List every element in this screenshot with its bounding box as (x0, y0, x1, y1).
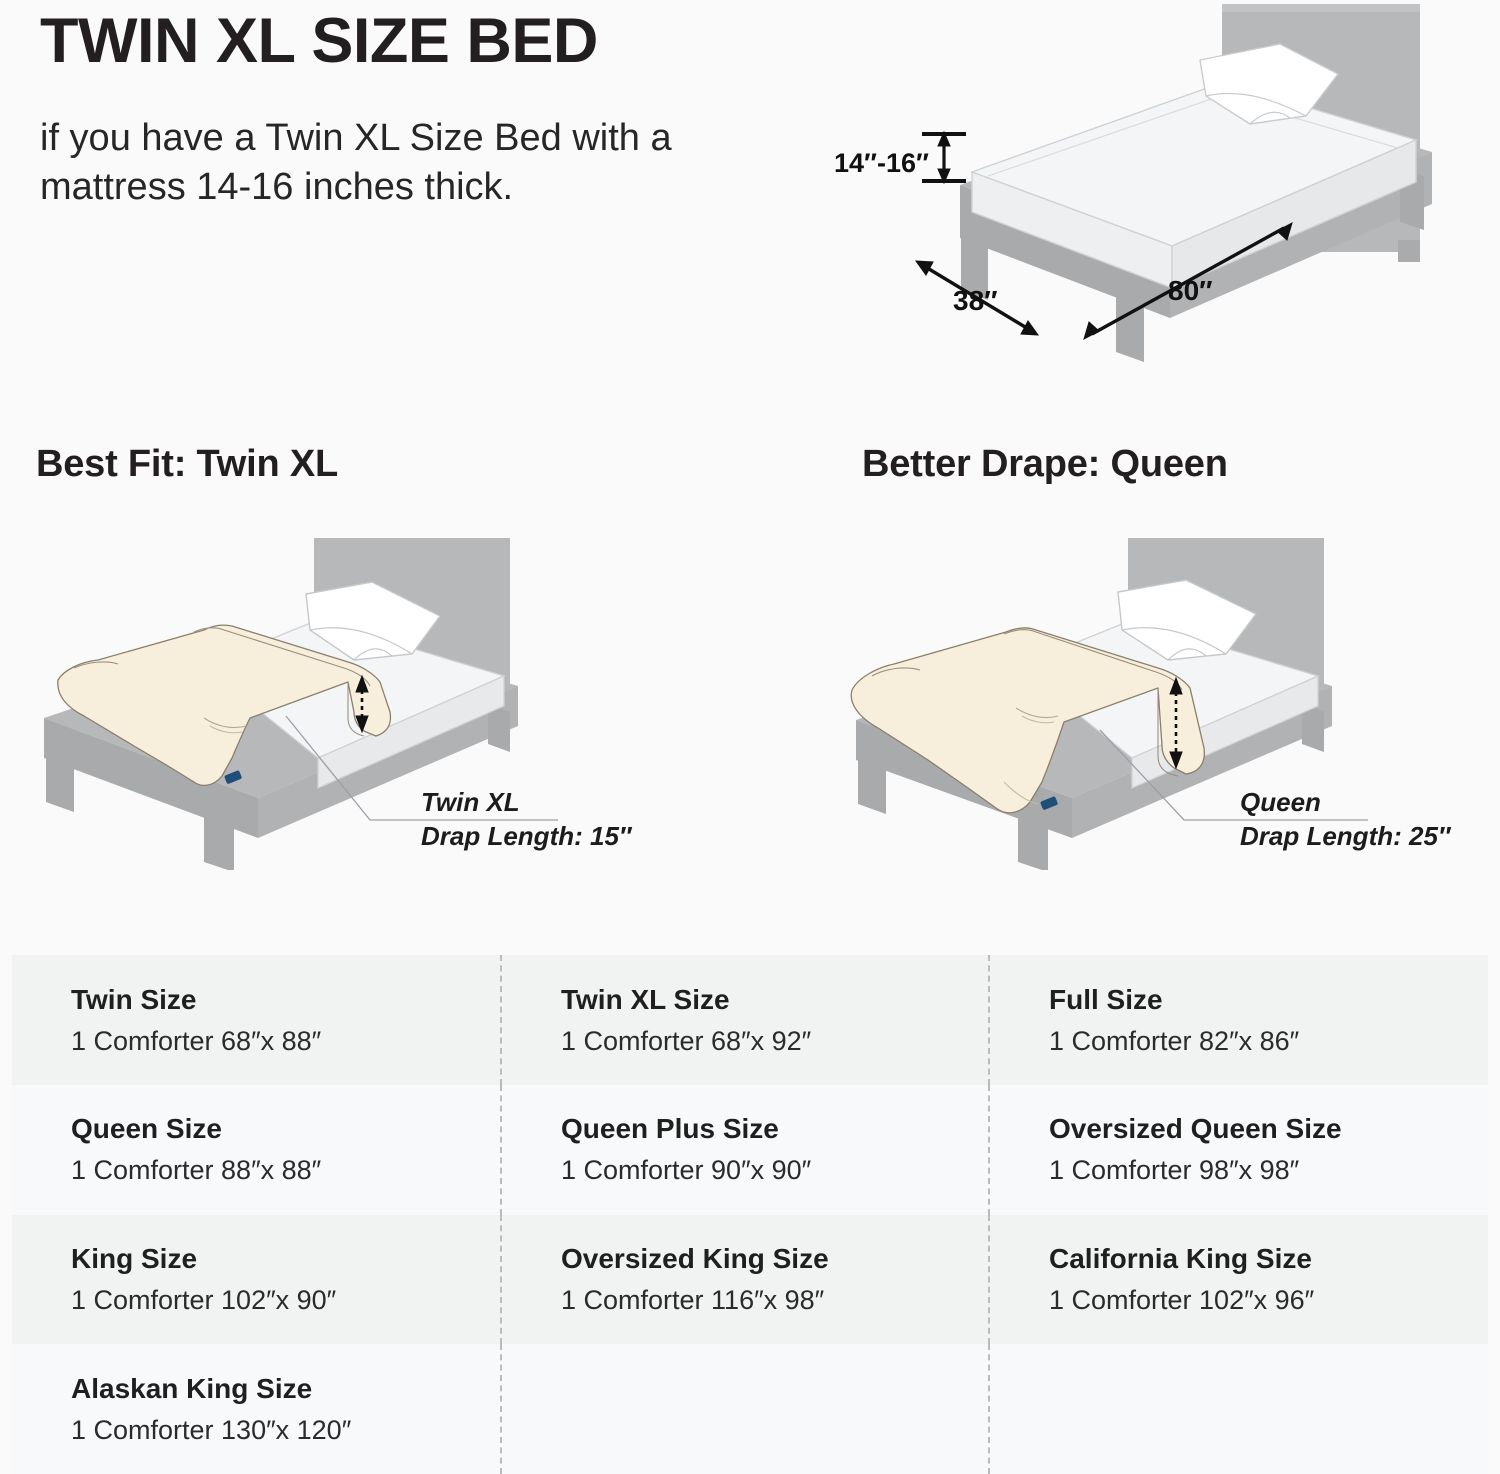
size-detail: 1 Comforter 82″x 86″ (1049, 1021, 1476, 1062)
table-cell: Twin XL Size 1 Comforter 68″x 92″ (500, 955, 988, 1085)
size-detail: 1 Comforter 116″x 98″ (561, 1280, 988, 1321)
table-cell: Full Size 1 Comforter 82″x 86″ (988, 955, 1476, 1085)
table-row: King Size 1 Comforter 102″x 90″ Oversize… (12, 1215, 1488, 1345)
size-detail: 1 Comforter 88″x 88″ (71, 1150, 500, 1191)
size-detail: 1 Comforter 68″x 92″ (561, 1021, 988, 1062)
size-name: Full Size (1049, 979, 1476, 1021)
section-heading-better-drape: Better Drape: Queen (862, 443, 1228, 486)
size-name: Oversized King Size (561, 1238, 988, 1280)
size-detail: 1 Comforter 130″x 120″ (71, 1410, 500, 1451)
table-cell: Oversized King Size 1 Comforter 116″x 98… (500, 1215, 988, 1345)
size-name: Alaskan King Size (71, 1368, 500, 1410)
width-label: 38″ (953, 285, 998, 316)
hero-bed-diagram: 14″-16″ 38″ 80″ (820, 0, 1500, 380)
size-name: Twin XL Size (561, 979, 988, 1021)
table-row: Alaskan King Size 1 Comforter 130″x 120″ (12, 1344, 1488, 1474)
callout-queen: Queen Drap Length: 25″ (1240, 785, 1450, 854)
size-detail: 1 Comforter 68″x 88″ (71, 1021, 500, 1062)
callout-line2: Drap Length: 25″ (1240, 819, 1450, 853)
size-detail: 1 Comforter 98″x 98″ (1049, 1150, 1476, 1191)
size-detail: 1 Comforter 102″x 90″ (71, 1280, 500, 1321)
callout-line1: Twin XL (421, 785, 631, 819)
callout-twin-xl: Twin XL Drap Length: 15″ (421, 785, 631, 854)
table-cell-empty (988, 1344, 1476, 1474)
thickness-label: 14″-16″ (834, 148, 929, 178)
table-cell: California King Size 1 Comforter 102″x 9… (988, 1215, 1476, 1345)
table-cell: Queen Size 1 Comforter 88″x 88″ (12, 1085, 500, 1215)
size-detail: 1 Comforter 90″x 90″ (561, 1150, 988, 1191)
table-cell: Oversized Queen Size 1 Comforter 98″x 98… (988, 1085, 1476, 1215)
size-name: Oversized Queen Size (1049, 1108, 1476, 1150)
infographic-root: TWIN XL SIZE BED if you have a Twin XL S… (0, 0, 1500, 1474)
comforter-sizes-table: Twin Size 1 Comforter 68″x 88″ Twin XL S… (12, 955, 1488, 1474)
table-cell: Alaskan King Size 1 Comforter 130″x 120″ (12, 1344, 500, 1474)
table-row: Twin Size 1 Comforter 68″x 88″ Twin XL S… (12, 955, 1488, 1085)
section-heading-best-fit: Best Fit: Twin XL (36, 443, 338, 486)
size-name: Queen Size (71, 1108, 500, 1150)
size-name: King Size (71, 1238, 500, 1280)
table-row: Queen Size 1 Comforter 88″x 88″ Queen Pl… (12, 1085, 1488, 1215)
table-cell: King Size 1 Comforter 102″x 90″ (12, 1215, 500, 1345)
callout-line2: Drap Length: 15″ (421, 819, 631, 853)
length-label: 80″ (1168, 275, 1213, 306)
page-subtitle: if you have a Twin XL Size Bed with a ma… (40, 114, 760, 211)
table-cell-empty (500, 1344, 988, 1474)
size-name: Twin Size (71, 979, 500, 1021)
size-name: Queen Plus Size (561, 1108, 988, 1150)
page-title: TWIN XL SIZE BED (40, 8, 598, 74)
table-cell: Twin Size 1 Comforter 68″x 88″ (12, 955, 500, 1085)
size-detail: 1 Comforter 102″x 96″ (1049, 1280, 1476, 1321)
callout-line1: Queen (1240, 785, 1450, 819)
table-cell: Queen Plus Size 1 Comforter 90″x 90″ (500, 1085, 988, 1215)
size-name: California King Size (1049, 1238, 1476, 1280)
